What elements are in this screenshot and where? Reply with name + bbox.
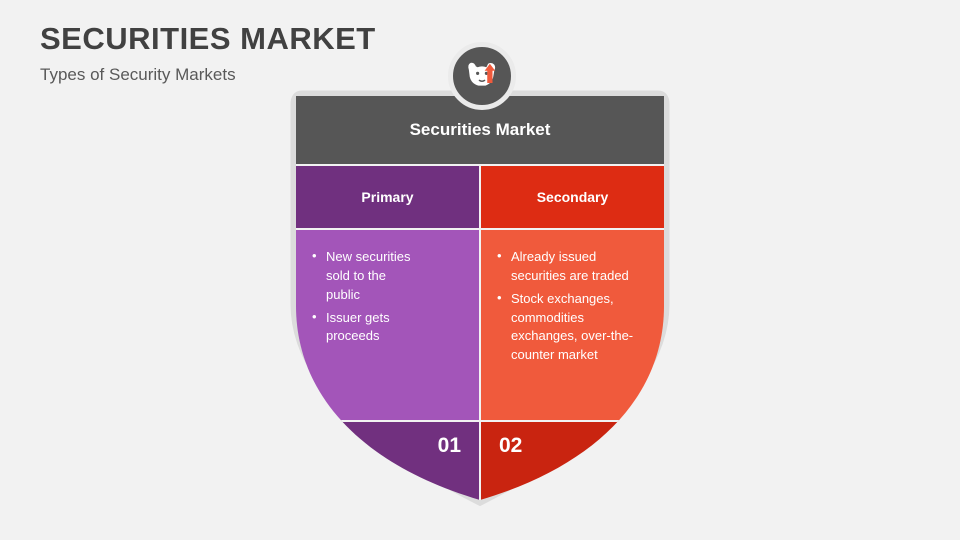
list-item: Stock exchanges, commodities exchanges, … (495, 290, 650, 365)
shield-header-label: Securities Market (410, 120, 551, 140)
bull-market-icon (448, 42, 516, 110)
column-primary-number: 01 (438, 434, 461, 458)
column-primary-title: Primary (361, 189, 413, 205)
column-secondary-bullets: Already issued securities are traded Sto… (495, 248, 650, 365)
list-item: Issuer gets proceeds (310, 309, 418, 347)
list-item: New securities sold to the public (310, 248, 418, 305)
title-block: SECURITIES MARKET Types of Security Mark… (40, 20, 376, 86)
column-secondary-header: Secondary (481, 166, 664, 228)
securities-market-shield-diagram: Securities Market Primary New securities… (288, 88, 672, 508)
column-primary-body: New securities sold to the public Issuer… (296, 228, 479, 420)
page-title: SECURITIES MARKET (40, 20, 376, 57)
column-primary-bullets: New securities sold to the public Issuer… (310, 248, 465, 346)
column-secondary-body: Already issued securities are traded Sto… (481, 228, 664, 420)
column-primary-header: Primary (296, 166, 479, 228)
list-item: Already issued securities are traded (495, 248, 650, 286)
page-subtitle: Types of Security Markets (40, 65, 376, 85)
column-secondary-title: Secondary (537, 189, 609, 205)
bull-head-arrow-glyph (461, 55, 503, 97)
column-secondary-number: 02 (499, 434, 522, 458)
